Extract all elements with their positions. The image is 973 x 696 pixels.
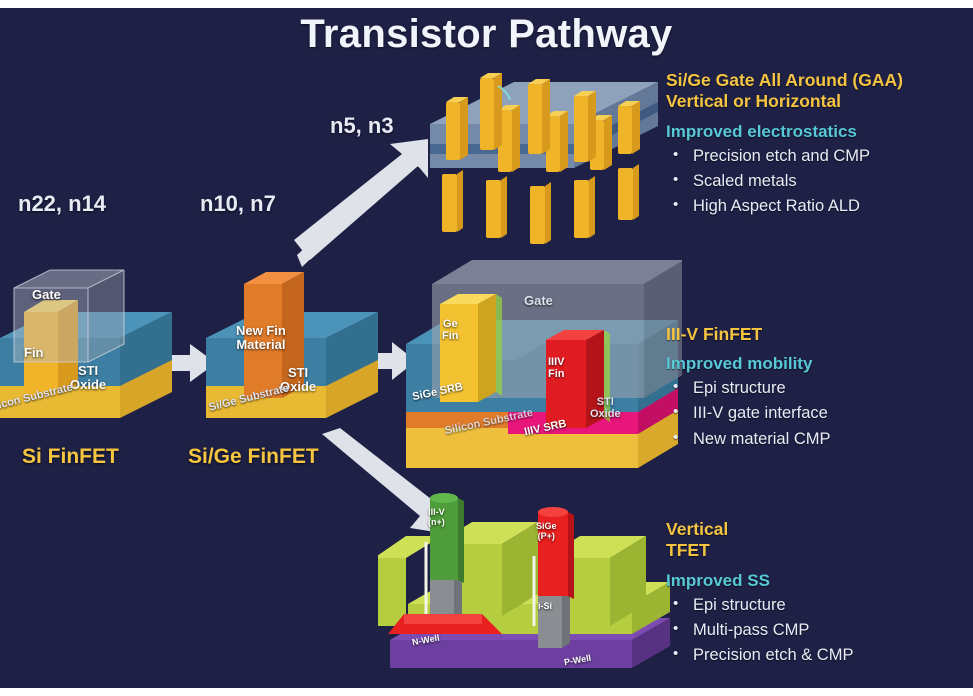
iiiv-subheading: Improved mobility <box>666 354 973 374</box>
gate-top <box>432 260 682 284</box>
page-title: Transistor Pathway <box>0 12 973 57</box>
bullet-icon: • <box>673 618 678 641</box>
gaa-bullet-2: •High Aspect Ratio ALD <box>666 194 973 219</box>
new-fin-side <box>282 272 304 398</box>
bullet-icon: • <box>673 427 678 450</box>
structure-vertical-tfet: III-V (n+) SiGe (P+) i-Si N-Well P-Well <box>378 484 678 684</box>
bullet-icon: • <box>673 144 678 167</box>
text-block-vertical-tfet: Vertical TFET Improved SS •Epi structure… <box>666 519 973 668</box>
tfet-heading-line2: TFET <box>666 540 973 561</box>
arrow-sige-to-gaa <box>292 136 432 268</box>
gaa-bullet-list: •Precision etch and CMP •Scaled metals •… <box>666 144 973 219</box>
new-fin-front <box>244 284 282 398</box>
tfet-bullet-text-0: Epi structure <box>693 596 786 614</box>
gaa-bullet-text-0: Precision etch and CMP <box>693 147 870 165</box>
iiiv-bullet-list: •Epi structure •III-V gate interface •Ne… <box>666 376 973 451</box>
ge-fin-front <box>440 304 478 402</box>
tfet-subheading: Improved SS <box>666 571 973 591</box>
tfet-bullet-1: •Multi-pass CMP <box>666 618 973 643</box>
gaa-subheading: Improved electrostatics <box>666 122 973 142</box>
structure-si-finfet: Gate Fin STI Oxide Silicon Substrate <box>0 266 182 446</box>
slide-canvas: Transistor Pathway n22, n14 n10, n7 n5, … <box>0 8 973 688</box>
tfet-bullet-0: •Epi structure <box>666 593 973 618</box>
bullet-icon: • <box>673 169 678 192</box>
tfet-bullet-2: •Precision etch & CMP <box>666 643 973 668</box>
gaa-heading-line1: Si/Ge Gate All Around (GAA) <box>666 70 973 91</box>
gaa-heading-line2: Vertical or Horizontal <box>666 91 973 112</box>
tfet-bullet-text-2: Precision etch & CMP <box>693 646 853 664</box>
caption-sige-finfet: Si/Ge FinFET <box>188 445 319 469</box>
slide-root: Transistor Pathway n22, n14 n10, n7 n5, … <box>0 0 973 696</box>
iiiv-bullet-text-1: III-V gate interface <box>693 404 828 422</box>
iiiv-bullet-text-2: New material CMP <box>693 430 831 448</box>
gaa-bullet-text-2: High Aspect Ratio ALD <box>693 197 860 215</box>
iiiv-n-pillar <box>430 498 458 580</box>
gaa-bullet-1: •Scaled metals <box>666 169 973 194</box>
iiiv-bullet-text-0: Epi structure <box>693 379 786 397</box>
text-block-iiiv-finfet: III-V FinFET Improved mobility •Epi stru… <box>666 324 973 452</box>
bullet-icon: • <box>673 593 678 616</box>
n-well-front <box>390 640 632 668</box>
structure-sige-finfet: New Fin Material STI Oxide Si/Ge Substra… <box>198 266 388 446</box>
caption-si-finfet: Si FinFET <box>22 445 119 469</box>
sige-p-pillar <box>538 512 568 596</box>
tfet-bullet-text-1: Multi-pass CMP <box>693 621 809 639</box>
iiiv-fin-side <box>586 330 604 428</box>
gaa-bullet-text-1: Scaled metals <box>693 172 797 190</box>
iiiv-fin-front <box>546 340 586 428</box>
gaa-bullet-0: •Precision etch and CMP <box>666 144 973 169</box>
iiiv-heading-line1: III-V FinFET <box>666 324 973 345</box>
gaa-heading: Si/Ge Gate All Around (GAA) Vertical or … <box>666 70 973 113</box>
iiiv-bullet-1: •III-V gate interface <box>666 401 973 426</box>
iiiv-heading: III-V FinFET <box>666 324 973 345</box>
bullet-icon: • <box>673 401 678 424</box>
bullet-icon: • <box>673 376 678 399</box>
bullet-icon: • <box>673 643 678 666</box>
ge-fin-side <box>478 294 496 402</box>
structure-iiiv-finfet: Gate Ge Fin IIIV Fin STI Oxide SiGe SRB … <box>396 256 682 486</box>
node-label-n22-n14: n22, n14 <box>18 191 106 217</box>
tfet-heading-line1: Vertical <box>666 519 973 540</box>
nanowire-group-lower <box>442 168 633 244</box>
gate-front <box>14 288 88 362</box>
structure-gaa <box>424 64 664 244</box>
tfet-bullet-list: •Epi structure •Multi-pass CMP •Precisio… <box>666 593 973 668</box>
iiiv-bullet-0: •Epi structure <box>666 376 973 401</box>
iiiv-bullet-2: •New material CMP <box>666 427 973 452</box>
tfet-heading: Vertical TFET <box>666 519 973 562</box>
node-label-n10-n7: n10, n7 <box>200 191 276 217</box>
bullet-icon: • <box>673 194 678 217</box>
text-block-gaa: Si/Ge Gate All Around (GAA) Vertical or … <box>666 70 973 219</box>
